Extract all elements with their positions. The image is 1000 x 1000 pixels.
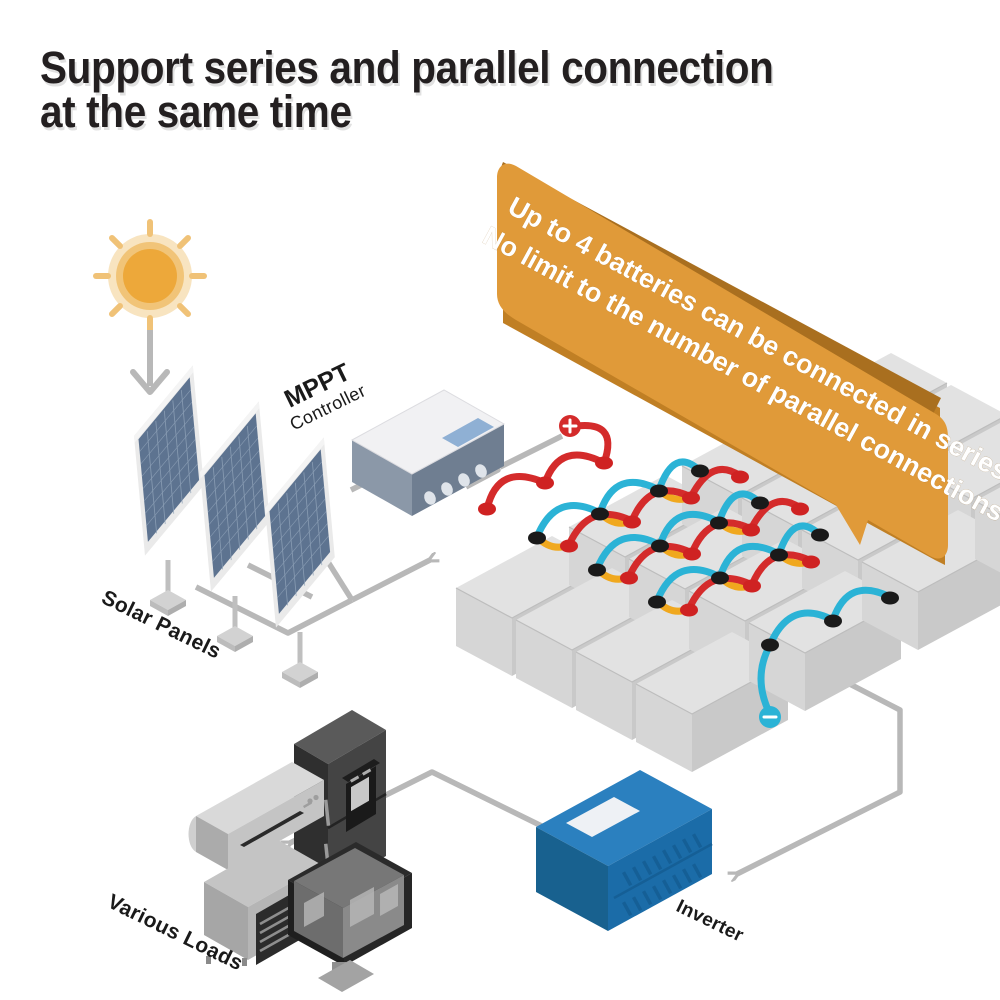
sunlight-arrow (133, 330, 167, 392)
solar-panel-3 (262, 437, 338, 627)
solar-panel-2 (197, 401, 273, 591)
sun-icon (96, 222, 204, 330)
solar-panel-1 (131, 365, 207, 555)
diagram-canvas: Up to 4 batteries can be connected in se… (0, 0, 1000, 1000)
mppt-controller (352, 390, 504, 516)
page-title: Support series and parallel connection a… (40, 46, 877, 134)
isometric-system-diagram: Up to 4 batteries can be connected in se… (0, 0, 1000, 1000)
